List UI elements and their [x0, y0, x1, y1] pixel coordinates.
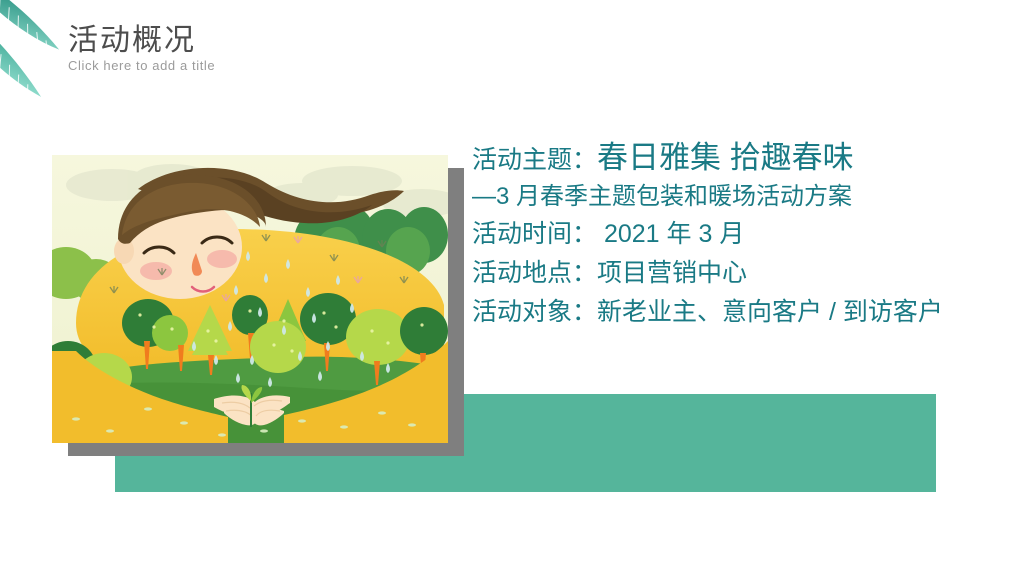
event-place-label: 活动地点：: [472, 259, 597, 287]
event-time-label: 活动时间：: [472, 220, 597, 248]
slide-canvas: 活动概况 Click here to add a title: [0, 0, 1024, 576]
event-info-list: 活动主题：春日雅集 拾趣春味 —3 月春季主题包装和暖场活动方案 活动时间： 2…: [472, 142, 1012, 325]
event-target-line: 活动对象：新老业主、意向客户 / 到访客户: [472, 300, 1012, 325]
event-subtitle-line: —3 月春季主题包装和暖场活动方案: [472, 185, 1012, 209]
girl-hugging-forest-illustration: [52, 155, 448, 443]
event-theme-value: 春日雅集 拾趣春味: [597, 140, 854, 175]
event-time-value: 2021 年 3 月: [597, 220, 744, 248]
event-place-line: 活动地点：项目营销中心: [472, 261, 1012, 286]
event-target-label: 活动对象：: [472, 298, 597, 326]
event-target-value: 新老业主、意向客户 / 到访客户: [597, 298, 943, 326]
page-subtitle: Click here to add a title: [68, 58, 215, 73]
event-time-line: 活动时间： 2021 年 3 月: [472, 222, 1012, 247]
event-place-value: 项目营销中心: [597, 259, 747, 287]
page-title: 活动概况: [68, 24, 196, 57]
event-theme-line: 活动主题：春日雅集 拾趣春味: [472, 142, 1012, 173]
event-theme-label: 活动主题：: [472, 146, 597, 174]
